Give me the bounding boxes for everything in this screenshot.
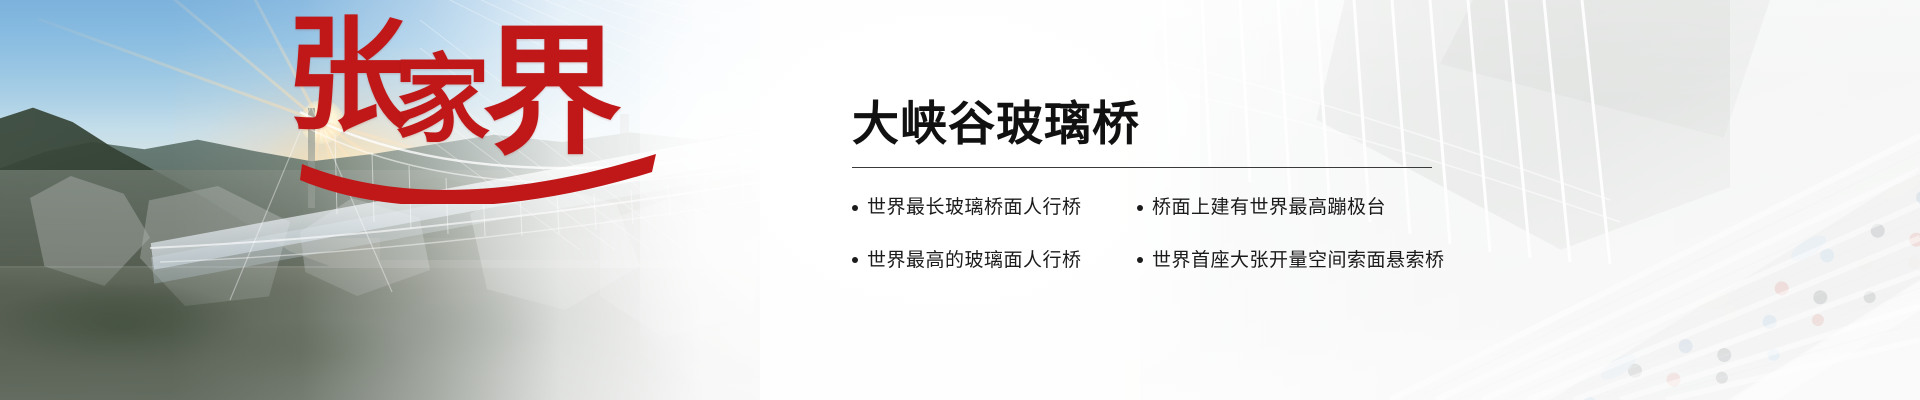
brand-title-zhangjiajie: 张 家 界 xyxy=(286,8,706,198)
feature-list: 世界最长玻璃桥面人行桥 桥面上建有世界最高蹦极台 世界最高的玻璃面人行桥 世界首… xyxy=(852,194,1472,273)
info-panel: 大峡谷玻璃桥 世界最长玻璃桥面人行桥 桥面上建有世界最高蹦极台 世界最高的玻璃面… xyxy=(852,100,1472,274)
brand-title-char-1: 张 xyxy=(286,14,406,138)
banner-content: 张 家 界 大峡谷玻璃桥 世界最长玻璃桥面人行桥 桥面上建有世界最高蹦极台 xyxy=(0,0,1920,400)
list-item-label: 世界首座大张开量空间索面悬索桥 xyxy=(1152,247,1445,274)
list-item-label: 世界最高的玻璃面人行桥 xyxy=(867,247,1082,274)
bullet-dot-icon xyxy=(1137,205,1143,211)
list-item: 世界最长玻璃桥面人行桥 xyxy=(852,194,1137,221)
zhangjiajie-glass-bridge-banner: 张 家 界 大峡谷玻璃桥 世界最长玻璃桥面人行桥 桥面上建有世界最高蹦极台 xyxy=(0,0,1920,400)
list-item: 世界最高的玻璃面人行桥 xyxy=(852,247,1137,274)
page-title: 大峡谷玻璃桥 xyxy=(852,100,1472,149)
list-item: 桥面上建有世界最高蹦极台 xyxy=(1137,194,1472,221)
bullet-dot-icon xyxy=(852,257,858,263)
list-item: 世界首座大张开量空间索面悬索桥 xyxy=(1137,247,1472,274)
brand-title-char-2: 家 xyxy=(394,52,486,148)
bullet-dot-icon xyxy=(1137,257,1143,263)
title-divider xyxy=(852,167,1432,168)
bullet-dot-icon xyxy=(852,205,858,211)
list-item-label: 桥面上建有世界最高蹦极台 xyxy=(1152,194,1386,221)
brand-title-char-3: 界 xyxy=(482,24,618,164)
list-item-label: 世界最长玻璃桥面人行桥 xyxy=(867,194,1082,221)
